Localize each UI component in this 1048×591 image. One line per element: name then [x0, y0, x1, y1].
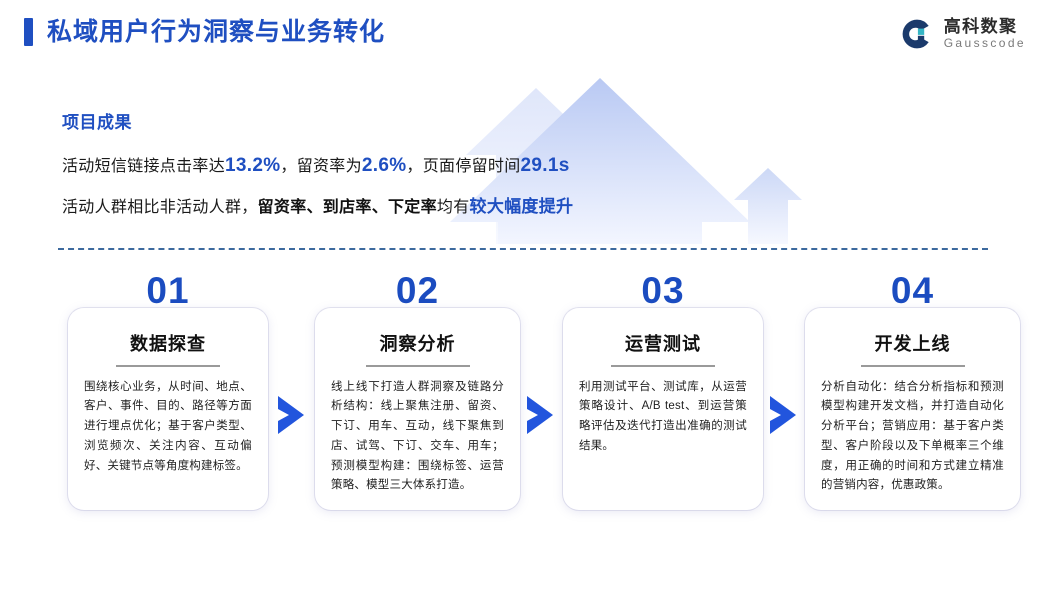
slide-header: 私域用户行为洞察与业务转化 高科数聚 Gausscode: [0, 0, 1048, 72]
step-card-1[interactable]: 01 数据探查 围绕核心业务，从时间、地点、客户、事件、目的、路径等方面进行埋点…: [68, 308, 268, 510]
step-body-4: 分析自动化：结合分析指标和预测模型构建开发文档，并打造自动化分析平台；营销应用：…: [818, 378, 1007, 497]
logo-name-cn: 高科数聚: [944, 17, 1026, 37]
metric-dwell-time: 29.1s: [521, 155, 570, 176]
decor-arrow-right: [734, 168, 802, 244]
results-heading: 项目成果: [62, 108, 573, 133]
logo-name-en: Gausscode: [944, 37, 1026, 51]
results-line1-seg3: ，页面停留时间: [406, 158, 520, 175]
step-rule-1: [116, 365, 220, 367]
chevron-right-icon: [766, 394, 800, 436]
step-rule-3: [611, 365, 715, 367]
results-line1-seg2: ，留资率为: [280, 158, 362, 175]
steps-section: 01 数据探查 围绕核心业务，从时间、地点、客户、事件、目的、路径等方面进行埋点…: [0, 272, 1048, 532]
metric-ctr: 13.2%: [225, 155, 280, 176]
step-card-3[interactable]: 03 运营测试 利用测试平台、测试库，从运营策略设计、A/B test、到运营策…: [563, 308, 763, 510]
title-accent-bar: [24, 18, 33, 46]
step-title-1: 数据探查: [81, 334, 255, 356]
step-rule-2: [366, 365, 470, 367]
step-card-2[interactable]: 02 洞察分析 线上线下打造人群洞察及链路分析结构：线上聚焦注册、留资、下订、用…: [315, 308, 520, 510]
step-body-2: 线上线下打造人群洞察及链路分析结构：线上聚焦注册、留资、下订、用车、互动，线下聚…: [328, 378, 507, 497]
step-number-2: 02: [315, 272, 520, 309]
results-line2-seg2: 均有: [437, 199, 470, 216]
step-body-1: 围绕核心业务，从时间、地点、客户、事件、目的、路径等方面进行埋点优化；基于客户类…: [81, 378, 255, 477]
page-title: 私域用户行为洞察与业务转化: [47, 20, 385, 45]
slide-root: 私域用户行为洞察与业务转化 高科数聚 Gausscode 项目成果 活动短信链接…: [0, 0, 1048, 591]
section-divider: [58, 248, 988, 250]
gausscode-logo-icon: [899, 16, 935, 52]
title-group: 私域用户行为洞察与业务转化: [24, 18, 385, 46]
step-rule-4: [861, 365, 965, 367]
logo-text-group: 高科数聚 Gausscode: [944, 17, 1026, 50]
step-number-3: 03: [563, 272, 763, 309]
results-section: 项目成果 活动短信链接点击率达13.2%，留资率为2.6%，页面停留时间29.1…: [62, 108, 573, 236]
results-line2-seg1: 活动人群相比非活动人群，: [62, 199, 258, 216]
step-card-4[interactable]: 04 开发上线 分析自动化：结合分析指标和预测模型构建开发文档，并打造自动化分析…: [805, 308, 1020, 510]
step-number-4: 04: [805, 272, 1020, 309]
brand-logo: 高科数聚 Gausscode: [899, 16, 1026, 52]
step-body-3: 利用测试平台、测试库，从运营策略设计、A/B test、到运营策略评估及迭代打造…: [576, 378, 750, 457]
chevron-right-icon: [523, 394, 557, 436]
step-number-1: 01: [68, 272, 268, 309]
chevron-right-icon: [274, 394, 308, 436]
step-title-2: 洞察分析: [328, 334, 507, 356]
step-title-4: 开发上线: [818, 334, 1007, 356]
results-line-1: 活动短信链接点击率达13.2%，留资率为2.6%，页面停留时间29.1s: [62, 153, 573, 179]
results-line2-highlight-uplift: 较大幅度提升: [470, 197, 574, 216]
step-title-3: 运营测试: [576, 334, 750, 356]
results-line-2: 活动人群相比非活动人群，留资率、到店率、下定率均有较大幅度提升: [62, 196, 573, 219]
results-line2-highlight-metrics: 留资率、到店率、下定率: [258, 199, 437, 216]
metric-lead-rate: 2.6%: [362, 155, 407, 176]
results-line1-seg1: 活动短信链接点击率达: [62, 158, 225, 175]
